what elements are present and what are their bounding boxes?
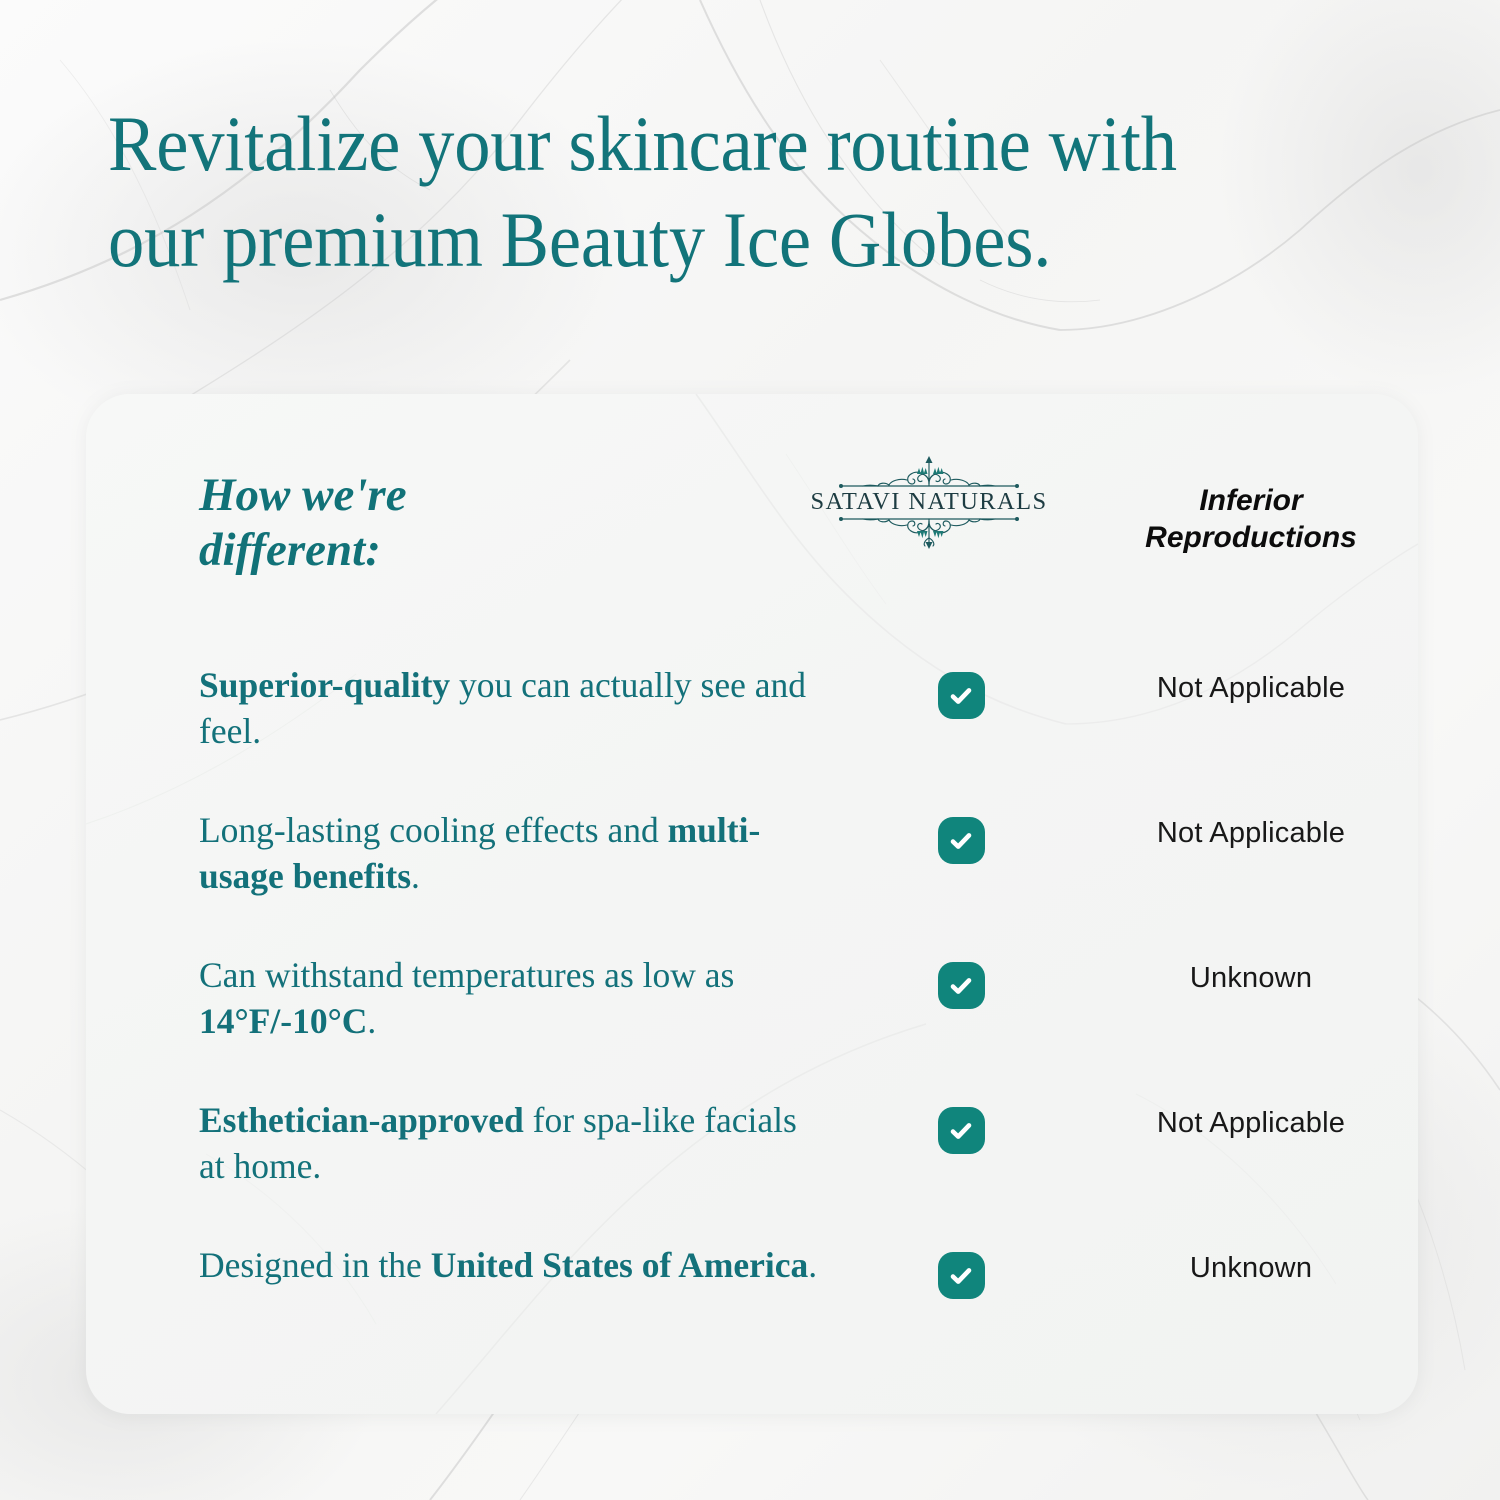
competitor-value: Not Applicable — [1086, 672, 1416, 705]
feature-row: Can withstand temperatures as low as 14°… — [86, 930, 1418, 1075]
feature-description: Long-lasting cooling effects and multi-u… — [199, 807, 829, 899]
brand-logo: SATAVI NATURALS — [798, 454, 1060, 554]
feature-highlight: United States of America — [431, 1245, 809, 1285]
feature-text: . — [411, 856, 420, 896]
ours-cell — [871, 817, 1051, 864]
feature-row: Designed in the United States of America… — [86, 1220, 1418, 1365]
feature-row: Long-lasting cooling effects and multi-u… — [86, 785, 1418, 930]
filigree-ornament-bottom-icon — [829, 514, 1029, 554]
column-header-competitor: Inferior Reproductions — [1086, 482, 1416, 556]
competitor-value: Unknown — [1086, 962, 1416, 995]
feature-text: Designed in the — [199, 1245, 431, 1285]
check-icon — [938, 962, 985, 1009]
feature-text: Long-lasting cooling effects and — [199, 810, 668, 850]
check-icon — [938, 672, 985, 719]
ours-cell — [871, 1107, 1051, 1154]
check-icon — [938, 817, 985, 864]
feature-highlight: Superior-quality — [199, 665, 450, 705]
feature-text: . — [367, 1001, 376, 1041]
brand-name-text: SATAVI NATURALS — [798, 488, 1060, 516]
feature-text: . — [808, 1245, 817, 1285]
feature-highlight: Esthetician-approved — [199, 1100, 524, 1140]
check-icon — [938, 1252, 985, 1299]
competitor-value: Not Applicable — [1086, 817, 1416, 850]
feature-description: Superior-quality you can actually see an… — [199, 662, 829, 754]
ours-cell — [871, 1252, 1051, 1299]
ours-cell — [871, 672, 1051, 719]
page-headline: Revitalize your skincare routine with ou… — [108, 96, 1326, 288]
filigree-ornament-top-icon — [829, 454, 1029, 490]
competitor-value: Not Applicable — [1086, 1107, 1416, 1140]
feature-text: Can withstand temperatures as low as — [199, 955, 734, 995]
feature-row: Superior-quality you can actually see an… — [86, 640, 1418, 785]
competitor-value: Unknown — [1086, 1252, 1416, 1285]
feature-highlight: 14°F/-10°C — [199, 1001, 367, 1041]
card-section-title: How we're different: — [199, 468, 529, 577]
ours-cell — [871, 962, 1051, 1009]
feature-description: Designed in the United States of America… — [199, 1242, 829, 1288]
feature-row: Esthetician-approved for spa-like facial… — [86, 1075, 1418, 1220]
comparison-card: How we're different: — [86, 394, 1418, 1414]
feature-description: Esthetician-approved for spa-like facial… — [199, 1097, 829, 1189]
check-icon — [938, 1107, 985, 1154]
feature-description: Can withstand temperatures as low as 14°… — [199, 952, 829, 1044]
